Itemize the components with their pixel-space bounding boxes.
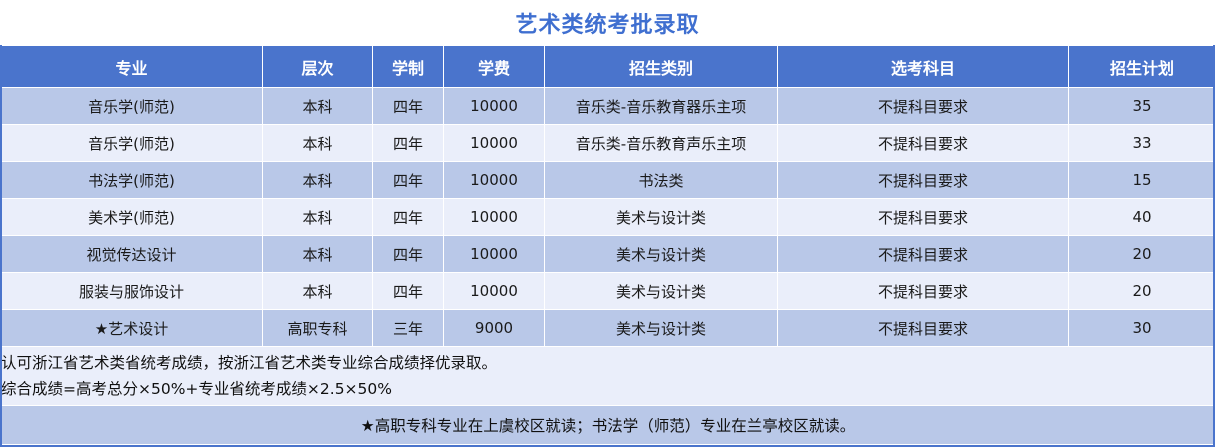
cell-level: 本科 bbox=[263, 236, 373, 273]
cell-tuition: 10000 bbox=[444, 199, 545, 236]
table-header-row: 专业 层次 学制 学费 招生类别 选考科目 招生计划 bbox=[1, 46, 1215, 88]
column-header-category: 招生类别 bbox=[545, 46, 778, 88]
table-row: 视觉传达设计 本科 四年 10000 美术与设计类 不提科目要求 20 bbox=[1, 236, 1215, 273]
table-row: 音乐学(师范) 本科 四年 10000 音乐类-音乐教育器乐主项 不提科目要求 … bbox=[1, 88, 1215, 125]
cell-level: 本科 bbox=[263, 273, 373, 310]
table-row: 音乐学(师范) 本科 四年 10000 音乐类-音乐教育声乐主项 不提科目要求 … bbox=[1, 125, 1215, 162]
cell-level: 本科 bbox=[263, 199, 373, 236]
cell-tuition: 10000 bbox=[444, 88, 545, 125]
cell-subject: 不提科目要求 bbox=[778, 199, 1069, 236]
campus-note: ★高职专科专业在上虞校区就读；书法学（师范）专业在兰亭校区就读。 bbox=[1, 406, 1215, 445]
page-title-bar: 艺术类统考批录取 bbox=[0, 0, 1215, 45]
cell-plan: 15 bbox=[1069, 162, 1215, 199]
table-row: 书法学(师范) 本科 四年 10000 书法类 不提科目要求 15 bbox=[1, 162, 1215, 199]
column-header-level: 层次 bbox=[263, 46, 373, 88]
cell-tuition: 10000 bbox=[444, 162, 545, 199]
cell-years: 三年 bbox=[373, 310, 444, 347]
page-title: 艺术类统考批录取 bbox=[515, 7, 699, 39]
cell-major: 音乐学(师范) bbox=[1, 125, 263, 162]
cell-category: 音乐类-音乐教育器乐主项 bbox=[545, 88, 778, 125]
cell-plan: 20 bbox=[1069, 273, 1215, 310]
cell-category: 书法类 bbox=[545, 162, 778, 199]
column-header-subject: 选考科目 bbox=[778, 46, 1069, 88]
cell-plan: 20 bbox=[1069, 236, 1215, 273]
notes-cell: 认可浙江省艺术类省统考成绩，按浙江省艺术类专业综合成绩择优录取。 综合成绩=高考… bbox=[1, 347, 1215, 406]
cell-years: 四年 bbox=[373, 162, 444, 199]
cell-subject: 不提科目要求 bbox=[778, 310, 1069, 347]
cell-years: 四年 bbox=[373, 199, 444, 236]
cell-plan: 35 bbox=[1069, 88, 1215, 125]
cell-tuition: 10000 bbox=[444, 125, 545, 162]
table-body: 音乐学(师范) 本科 四年 10000 音乐类-音乐教育器乐主项 不提科目要求 … bbox=[1, 88, 1215, 445]
cell-major: 服装与服饰设计 bbox=[1, 273, 263, 310]
column-header-years: 学制 bbox=[373, 46, 444, 88]
column-header-major: 专业 bbox=[1, 46, 263, 88]
cell-years: 四年 bbox=[373, 273, 444, 310]
table-row: 美术学(师范) 本科 四年 10000 美术与设计类 不提科目要求 40 bbox=[1, 199, 1215, 236]
cell-level: 高职专科 bbox=[263, 310, 373, 347]
cell-years: 四年 bbox=[373, 125, 444, 162]
note-line-2: 综合成绩=高考总分×50%+专业省统考成绩×2.5×50% bbox=[1, 376, 1215, 402]
note-line-1: 认可浙江省艺术类省统考成绩，按浙江省艺术类专业综合成绩择优录取。 bbox=[1, 350, 1215, 376]
cell-category: 美术与设计类 bbox=[545, 199, 778, 236]
cell-subject: 不提科目要求 bbox=[778, 273, 1069, 310]
cell-category: 美术与设计类 bbox=[545, 273, 778, 310]
cell-major: 视觉传达设计 bbox=[1, 236, 263, 273]
cell-level: 本科 bbox=[263, 88, 373, 125]
cell-plan: 40 bbox=[1069, 199, 1215, 236]
cell-years: 四年 bbox=[373, 236, 444, 273]
column-header-plan: 招生计划 bbox=[1069, 46, 1215, 88]
cell-years: 四年 bbox=[373, 88, 444, 125]
cell-tuition: 10000 bbox=[444, 236, 545, 273]
cell-major: 音乐学(师范) bbox=[1, 88, 263, 125]
art-admission-plan-page: 艺术类统考批录取 专业 层次 学制 学费 招生类别 选考科目 招生计划 bbox=[0, 0, 1215, 447]
cell-plan: 30 bbox=[1069, 310, 1215, 347]
cell-subject: 不提科目要求 bbox=[778, 162, 1069, 199]
cell-subject: 不提科目要求 bbox=[778, 125, 1069, 162]
cell-subject: 不提科目要求 bbox=[778, 88, 1069, 125]
cell-major: 书法学(师范) bbox=[1, 162, 263, 199]
footer-row: ★高职专科专业在上虞校区就读；书法学（师范）专业在兰亭校区就读。 bbox=[1, 406, 1215, 445]
left-border-rule bbox=[0, 45, 2, 447]
admission-plan-table: 专业 层次 学制 学费 招生类别 选考科目 招生计划 音乐学(师范) 本科 四年… bbox=[0, 45, 1215, 445]
cell-tuition: 9000 bbox=[444, 310, 545, 347]
cell-tuition: 10000 bbox=[444, 273, 545, 310]
cell-level: 本科 bbox=[263, 125, 373, 162]
cell-category: 美术与设计类 bbox=[545, 310, 778, 347]
cell-level: 本科 bbox=[263, 162, 373, 199]
cell-major: 美术学(师范) bbox=[1, 199, 263, 236]
cell-plan: 33 bbox=[1069, 125, 1215, 162]
table-row: ★艺术设计 高职专科 三年 9000 美术与设计类 不提科目要求 30 bbox=[1, 310, 1215, 347]
table-header: 专业 层次 学制 学费 招生类别 选考科目 招生计划 bbox=[1, 46, 1215, 88]
table-row: 服装与服饰设计 本科 四年 10000 美术与设计类 不提科目要求 20 bbox=[1, 273, 1215, 310]
cell-subject: 不提科目要求 bbox=[778, 236, 1069, 273]
column-header-tuition: 学费 bbox=[444, 46, 545, 88]
cell-category: 音乐类-音乐教育声乐主项 bbox=[545, 125, 778, 162]
notes-row: 认可浙江省艺术类省统考成绩，按浙江省艺术类专业综合成绩择优录取。 综合成绩=高考… bbox=[1, 347, 1215, 406]
cell-category: 美术与设计类 bbox=[545, 236, 778, 273]
cell-major: ★艺术设计 bbox=[1, 310, 263, 347]
